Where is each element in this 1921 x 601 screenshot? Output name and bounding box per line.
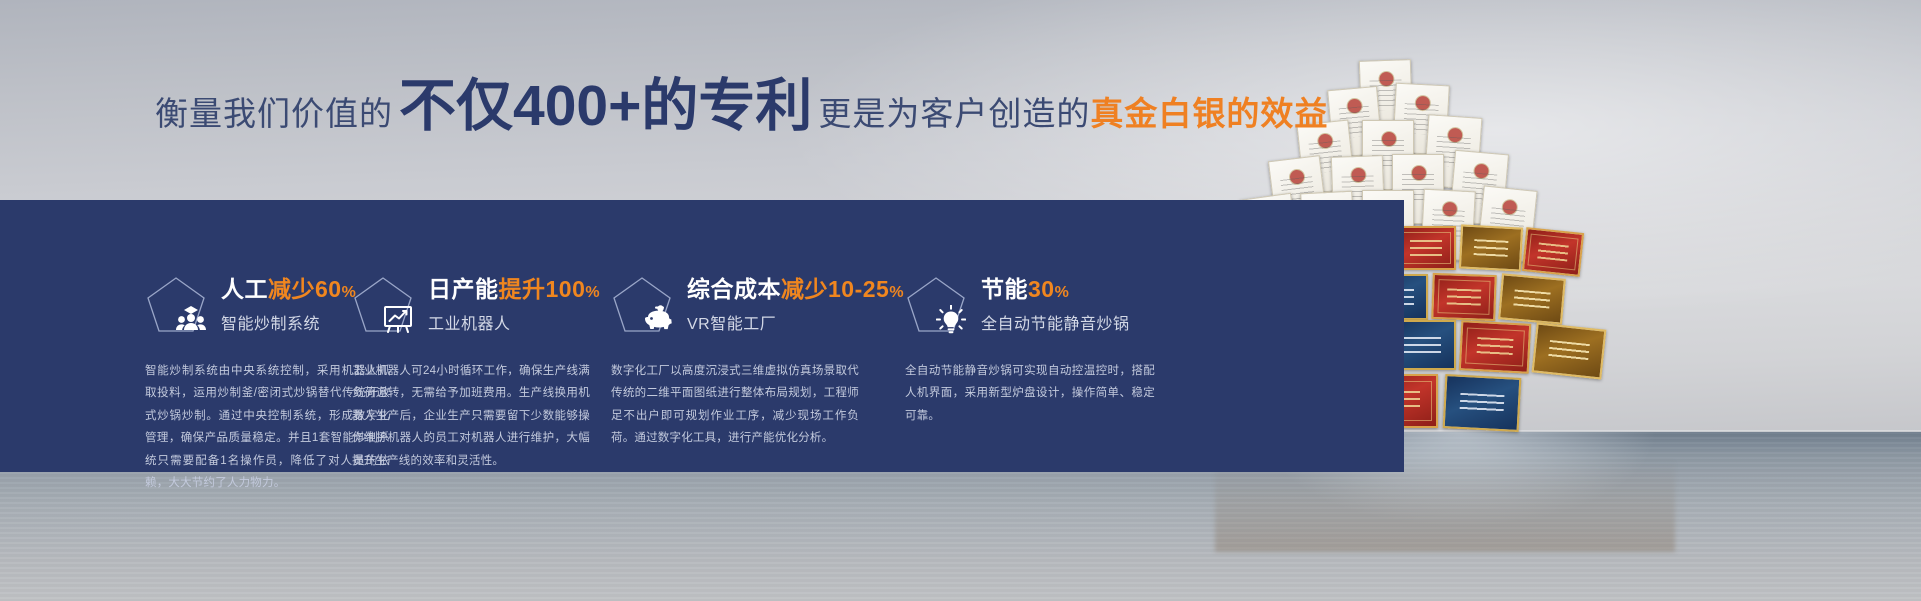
- award-plaque: [1532, 322, 1607, 379]
- headline-emphasis: 不仅400+的专利: [393, 78, 818, 135]
- feature-title-label: 节能: [981, 276, 1028, 302]
- award-plaque: [1459, 320, 1532, 374]
- feature-head-text: 节能30% 全自动节能静音炒锅: [981, 276, 1130, 333]
- people-group-icon: [145, 275, 207, 335]
- feature-subtitle: 工业机器人: [428, 310, 600, 334]
- feature-subtitle: 全自动节能静音炒锅: [981, 310, 1130, 334]
- award-plaque: [1443, 374, 1522, 432]
- page-headline: 衡量我们价值的 不仅400+的专利 更是为客户创造的 真金白银的效益: [155, 78, 1328, 140]
- feature-title-label: 日产能: [428, 276, 499, 302]
- feature-header: 人工减少60% 智能炒制系统: [145, 275, 356, 335]
- award-plaque: [1459, 224, 1523, 271]
- headline-middle: 更是为客户创造的: [818, 87, 1090, 135]
- feature-title-label: 人工: [221, 276, 268, 302]
- piggy-bank-icon: [611, 275, 673, 335]
- feature-title-accent: 减少: [268, 276, 315, 302]
- feature-body: 全自动节能静音炒锅可实现自动控温控时，搭配人机界面，采用新型炉盘设计，操作简单、…: [905, 360, 1155, 427]
- feature-body: 工业机器人可24小时循环工作，确保生产线满负荷运转，无需给予加班费用。生产线换用…: [352, 360, 590, 472]
- award-plaque: [1522, 227, 1584, 277]
- feature-panel: 人工减少60% 智能炒制系统 智能炒制系统由中央系统控制，采用机器人抓取投料，运…: [0, 200, 1404, 472]
- feature-title: 节能30%: [981, 276, 1130, 302]
- award-plaque: [1396, 226, 1456, 270]
- feature-column-1: 人工减少60% 智能炒制系统 智能炒制系统由中央系统控制，采用机器人抓取投料，运…: [0, 200, 330, 472]
- feature-title-accent: 提升: [499, 276, 546, 302]
- feature-subtitle: VR智能工厂: [687, 310, 904, 334]
- feature-title: 综合成本减少10-25%: [687, 276, 904, 302]
- award-plaque: [1431, 273, 1497, 321]
- feature-head-text: 综合成本减少10-25% VR智能工厂: [687, 276, 904, 333]
- feature-header: 日产能提升100% 工业机器人: [352, 275, 600, 335]
- feature-column-3: 综合成本减少10-25% VR智能工厂 数字化工厂以高度沉浸式三维虚拟仿真场景取…: [595, 200, 875, 472]
- feature-body: 数字化工厂以高度沉浸式三维虚拟仿真场景取代传统的二维平面图纸进行整体布局规划，工…: [611, 360, 859, 450]
- feature-head-text: 日产能提升100% 工业机器人: [428, 276, 600, 333]
- lightbulb-icon: [905, 275, 967, 335]
- headline-prefix: 衡量我们价值的: [155, 87, 393, 135]
- feature-title-value: 100: [546, 276, 586, 302]
- feature-header: 节能30% 全自动节能静音炒锅: [905, 275, 1130, 335]
- headline-highlight: 真金白银的效益: [1090, 87, 1328, 135]
- feature-title-unit: %: [1055, 284, 1070, 301]
- feature-column-2: 日产能提升100% 工业机器人 工业机器人可24小时循环工作，确保生产线满负荷运…: [330, 200, 595, 472]
- award-plaque: [1498, 273, 1566, 324]
- feature-header: 综合成本减少10-25% VR智能工厂: [611, 275, 904, 335]
- chart-easel-icon: [352, 275, 414, 335]
- feature-column-4: 节能30% 全自动节能静音炒锅 全自动节能静音炒锅可实现自动控温控时，搭配人机界…: [875, 200, 1175, 472]
- feature-title-label: 综合成本: [687, 276, 781, 302]
- feature-title-value: 30: [1028, 276, 1055, 302]
- feature-title-accent: 减少: [781, 276, 828, 302]
- feature-title: 日产能提升100%: [428, 276, 600, 302]
